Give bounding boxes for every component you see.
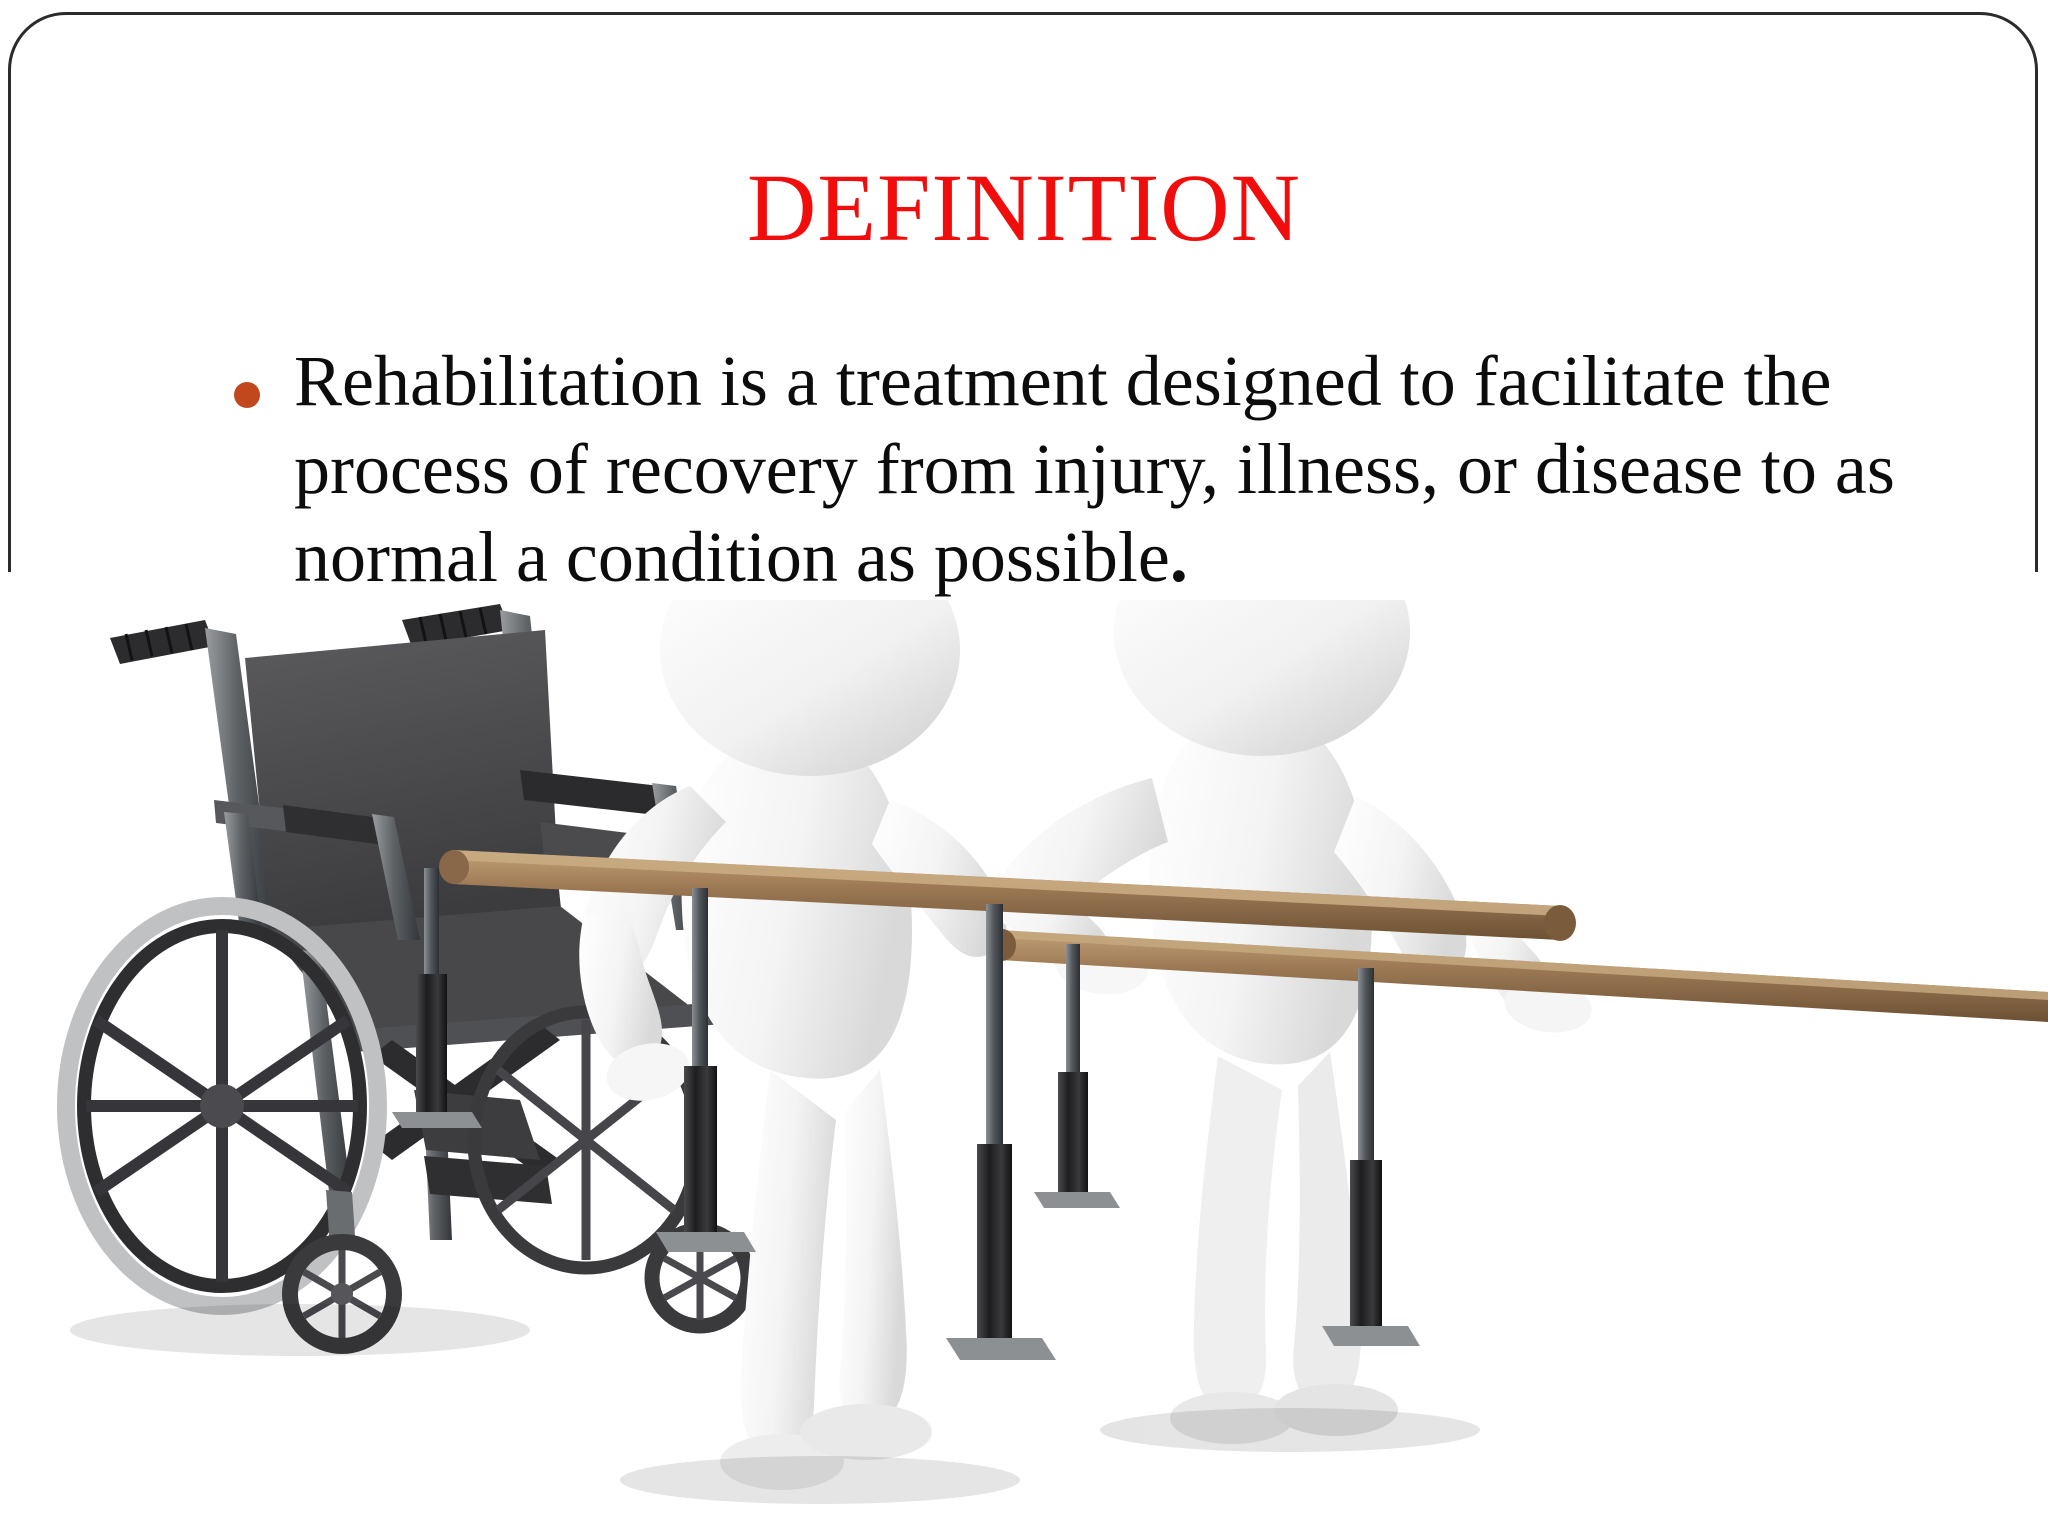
bullet-text-period: . xyxy=(1170,517,1188,597)
support-post-near-3 xyxy=(946,904,1056,1360)
bullet-dot-icon xyxy=(234,382,260,408)
patient-figure xyxy=(579,600,1150,1490)
page-title: DEFINITION xyxy=(0,160,2048,256)
therapist-figure xyxy=(995,600,1595,1444)
slide-canvas: DEFINITION Rehabilitation is a treatment… xyxy=(0,0,2048,1536)
bullet-list: Rehabilitation is a treatment designed t… xyxy=(226,338,1926,601)
bullet-text-body: Rehabilitation is a treatment designed t… xyxy=(294,341,1895,597)
rehabilitation-illustration xyxy=(0,600,2048,1536)
bullet-item-text: Rehabilitation is a treatment designed t… xyxy=(294,338,1926,601)
